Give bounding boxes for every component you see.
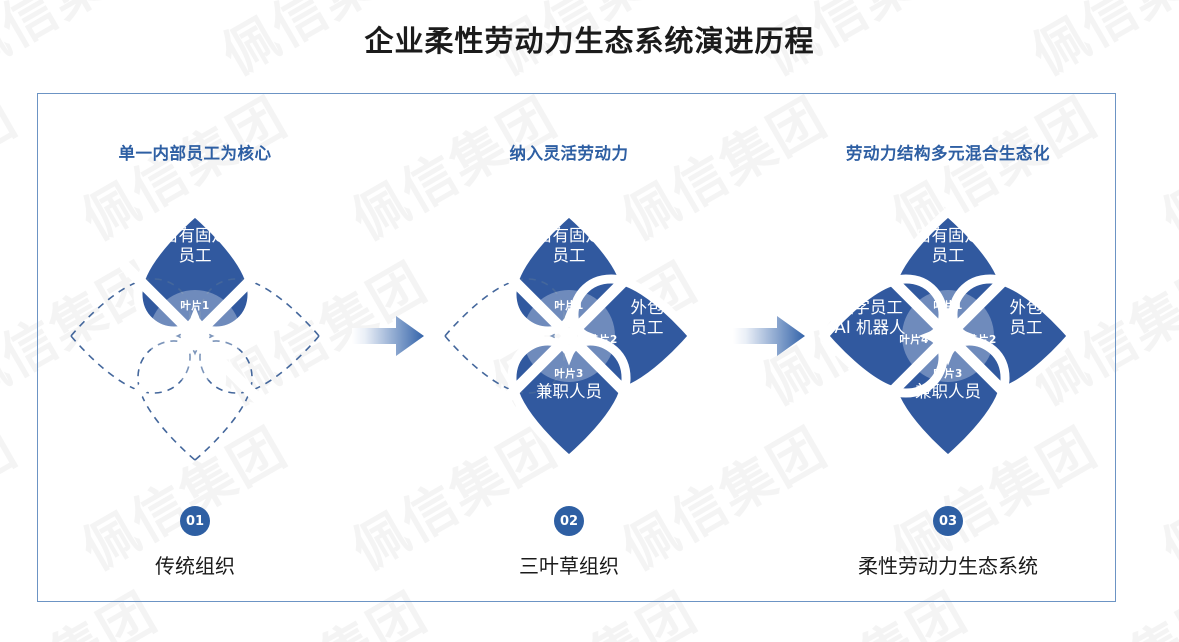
- diagram-stage: 单一内部员工为核心 自有固定 员工叶片1 01 传统组织 纳入灵活劳动力 自有固…: [0, 0, 1179, 642]
- stage-badge-2: 02: [554, 506, 584, 536]
- stage-caption-1: 传统组织: [30, 550, 360, 579]
- clover-diagram-3: 自有固定 员工叶片1外包 员工叶片2兼职人员叶片3数字员工 AI 机器人叶片4: [798, 186, 1098, 486]
- arrow-stage2-to-stage3: [733, 312, 805, 360]
- arrow-stage1-to-stage2: [352, 312, 424, 360]
- stage-column-1: 单一内部员工为核心 自有固定 员工叶片1 01 传统组织: [30, 140, 360, 486]
- page-title: 企业柔性劳动力生态系统演进历程: [0, 18, 1179, 60]
- stage-caption-2: 三叶草组织: [404, 550, 734, 579]
- clover-shape: [45, 186, 345, 486]
- clover-shape: [798, 186, 1098, 486]
- clover-diagram-1: 自有固定 员工叶片1: [45, 186, 345, 486]
- stage-heading-3: 劳动力结构多元混合生态化: [783, 140, 1113, 164]
- stage-heading-2: 纳入灵活劳动力: [404, 140, 734, 164]
- stage-column-3: 劳动力结构多元混合生态化 自有固定 员工叶片1外包 员工叶片2兼职人员叶片3数字…: [783, 140, 1113, 486]
- stage-heading-1: 单一内部员工为核心: [30, 140, 360, 164]
- stage-badge-1: 01: [180, 506, 210, 536]
- stage-caption-3: 柔性劳动力生态系统: [783, 550, 1113, 579]
- clover-diagram-2: 自有固定 员工叶片1外包 员工叶片2兼职人员叶片3: [419, 186, 719, 486]
- stage-column-2: 纳入灵活劳动力 自有固定 员工叶片1外包 员工叶片2兼职人员叶片3 02 三叶草…: [404, 140, 734, 486]
- stage-badge-3: 03: [933, 506, 963, 536]
- clover-shape: [419, 186, 719, 486]
- stage-footer-1: 01 传统组织: [30, 506, 360, 579]
- stage-footer-3: 03 柔性劳动力生态系统: [783, 506, 1113, 579]
- stage-footer-2: 02 三叶草组织: [404, 506, 734, 579]
